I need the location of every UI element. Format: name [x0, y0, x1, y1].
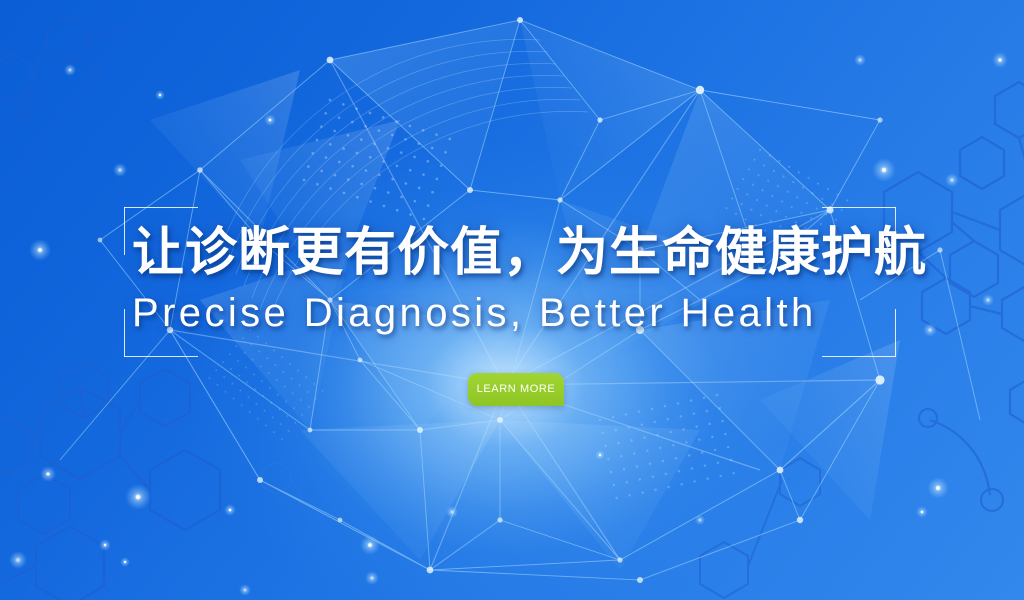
hero-banner: 让诊断更有价值，为生命健康护航 Precise Diagnosis, Bette… — [0, 0, 1024, 600]
hexagon-group-right — [884, 82, 1024, 511]
headline-chinese: 让诊断更有价值，为生命健康护航 — [132, 223, 888, 283]
headline-block: 让诊断更有价值，为生命健康护航 Precise Diagnosis, Bette… — [124, 207, 896, 357]
learn-more-button[interactable]: LEARN MORE — [468, 373, 564, 406]
headline-english: Precise Diagnosis, Better Health — [132, 289, 892, 337]
hexagon-group-left — [0, 362, 220, 600]
hexagon-group-mid-right — [262, 462, 336, 518]
